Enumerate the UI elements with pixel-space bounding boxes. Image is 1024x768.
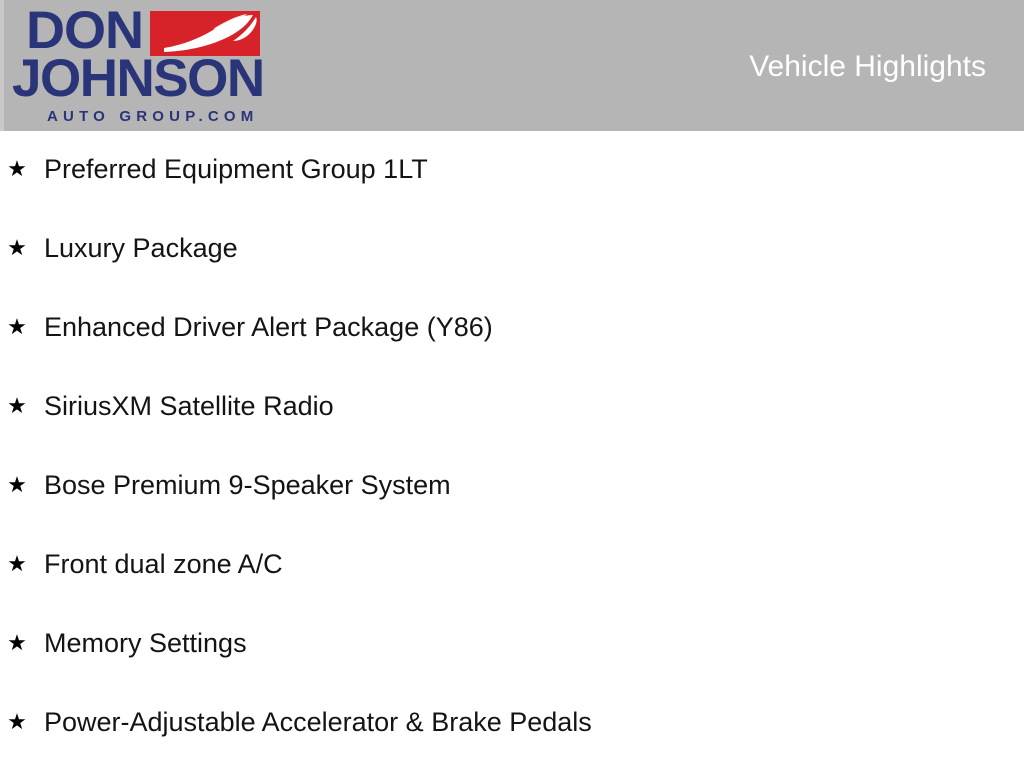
list-item-label: SiriusXM Satellite Radio [44, 392, 334, 420]
header-bar: DON JOHNSON AUTO GROUP.COM Vehicle Highl… [0, 0, 1024, 131]
vehicle-highlights-page: DON JOHNSON AUTO GROUP.COM Vehicle Highl… [0, 0, 1024, 768]
list-item-label: Bose Premium 9-Speaker System [44, 471, 451, 499]
star-icon: ★ [2, 708, 32, 736]
list-item-label: Power-Adjustable Accelerator & Brake Ped… [44, 708, 592, 736]
list-item-label: Preferred Equipment Group 1LT [44, 155, 428, 183]
list-item-label: Front dual zone A/C [44, 550, 283, 578]
list-item: ★ Memory Settings [0, 605, 1024, 684]
list-item-label: Memory Settings [44, 629, 247, 657]
header-left-edge [0, 0, 4, 131]
list-item: ★ Preferred Equipment Group 1LT [0, 131, 1024, 210]
star-icon: ★ [2, 155, 32, 183]
star-icon: ★ [2, 234, 32, 262]
star-icon: ★ [2, 313, 32, 341]
list-item-label: Luxury Package [44, 234, 238, 262]
star-icon: ★ [2, 392, 32, 420]
star-icon: ★ [2, 471, 32, 499]
list-item: ★ Power-Adjustable Accelerator & Brake P… [0, 684, 1024, 763]
list-item-label: Enhanced Driver Alert Package (Y86) [44, 313, 493, 341]
page-title: Vehicle Highlights [749, 50, 986, 84]
logo-word-johnson: JOHNSON [12, 51, 264, 107]
vehicle-highlights-list: ★ Preferred Equipment Group 1LT ★ Luxury… [0, 131, 1024, 763]
list-item: ★ Bose Premium 9-Speaker System [0, 447, 1024, 526]
logo-tagline: AUTO GROUP.COM [47, 108, 258, 126]
list-item: ★ Enhanced Driver Alert Package (Y86) [0, 289, 1024, 368]
list-item: ★ SiriusXM Satellite Radio [0, 368, 1024, 447]
list-item: ★ Front dual zone A/C [0, 526, 1024, 605]
list-item: ★ Luxury Package [0, 210, 1024, 289]
dealer-logo[interactable]: DON JOHNSON AUTO GROUP.COM [12, 6, 260, 126]
star-icon: ★ [2, 550, 32, 578]
star-icon: ★ [2, 629, 32, 657]
